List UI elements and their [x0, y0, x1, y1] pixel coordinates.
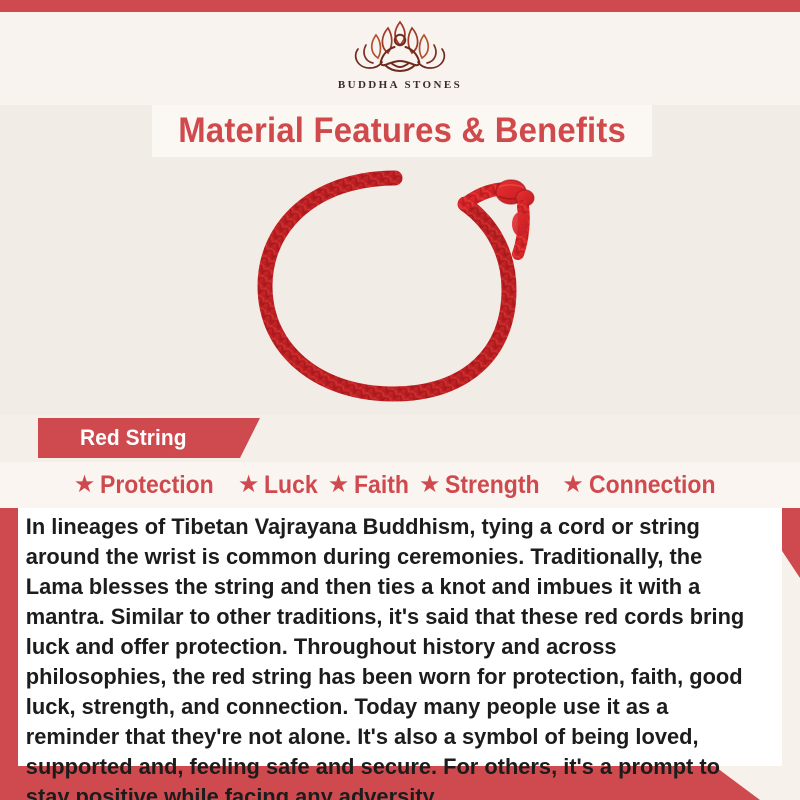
product-image-area — [0, 157, 800, 415]
star-icon: ★ — [419, 473, 441, 497]
title-banner: Material Features & Benefits — [152, 105, 652, 157]
benefit-item-luck: ★ Luck — [238, 471, 323, 500]
benefit-label: Connection — [589, 471, 716, 500]
page-title: Material Features & Benefits — [178, 111, 626, 151]
benefit-item-faith: ★ Faith — [328, 471, 414, 500]
material-tag: Red String — [38, 418, 260, 458]
star-icon: ★ — [328, 473, 350, 497]
top-accent-band — [0, 0, 800, 12]
star-icon: ★ — [238, 473, 260, 497]
benefit-item-protection: ★ Protection — [74, 471, 224, 500]
brand-name: BUDDHA STONES — [338, 79, 462, 91]
star-icon: ★ — [562, 473, 584, 497]
benefit-label: Faith — [354, 471, 409, 500]
red-braided-string-bracelet — [243, 162, 553, 412]
description-text: In lineages of Tibetan Vajrayana Buddhis… — [18, 512, 763, 800]
benefit-label: Strength — [445, 471, 540, 500]
star-icon: ★ — [74, 473, 96, 497]
description-panel: In lineages of Tibetan Vajrayana Buddhis… — [18, 508, 782, 766]
benefit-label: Protection — [100, 471, 214, 500]
lotus-meditation-icon — [336, 16, 464, 78]
brand-header: BUDDHA STONES — [0, 12, 800, 105]
benefits-row: ★ Protection ★ Luck ★ Faith ★ Strength ★… — [0, 462, 800, 508]
material-tag-label: Red String — [80, 425, 187, 451]
brand-logo: BUDDHA STONES — [336, 16, 464, 91]
benefit-item-connection: ★ Connection — [562, 471, 726, 500]
infographic-page: BUDDHA STONES Material Features & Benefi… — [0, 0, 800, 800]
benefit-label: Luck — [264, 471, 318, 500]
benefit-item-strength: ★ Strength — [419, 471, 548, 500]
